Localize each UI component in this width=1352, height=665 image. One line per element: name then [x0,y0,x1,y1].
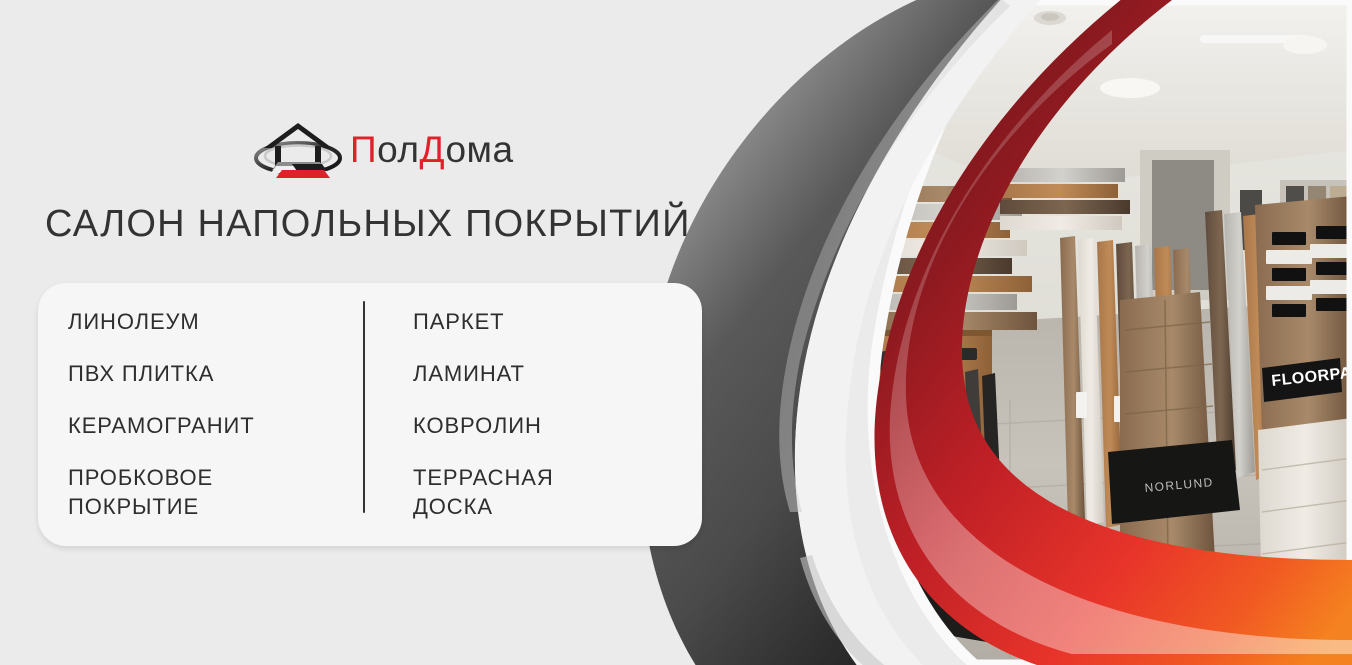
wordmark-part-1: ол [377,129,419,170]
category-item[interactable]: ТЕРРАСНАЯ ДОСКА [413,463,663,521]
norlund-stand [1108,440,1240,524]
page-title: САЛОН НАПОЛЬНЫХ ПОКРЫТИЙ [45,203,705,246]
brand-wordmark: ПолДома [350,131,514,168]
categories-card: ЛИНОЛЕУМ ПВХ ПЛИТКА КЕРАМОГРАНИТ ПРОБКОВ… [38,283,702,546]
grey-wisp [779,0,1010,512]
sample-rack-left [1060,236,1201,536]
wordmark-part-2: Д [419,129,445,170]
showroom-photo: NORLUND [860,0,1352,665]
herringbone-display [1120,292,1215,572]
swoosh-gap-white [795,0,1046,665]
grey-accent-stroke [800,555,888,665]
house-floor-logo-icon [252,118,344,180]
promo-banner: NORLUND [0,0,1352,665]
sample-rack-center [1205,210,1312,484]
dark-panel-fan [880,349,1007,630]
category-item[interactable]: ЛИНОЛЕУМ [68,307,363,336]
sample-rack-right [1255,196,1352,436]
floorpan-sign: FLOORPAN [1262,358,1352,402]
svg-text:FLOORPAN: FLOORPAN [1271,363,1352,390]
column-divider [363,301,365,513]
photo-edge-stroke [873,0,1352,665]
red-swoosh [874,0,1352,665]
category-item[interactable]: ЛАМИНАТ [413,359,663,388]
brand-logo[interactable]: ПолДома [252,118,484,180]
category-item[interactable]: ПРОБКОВОЕ ПОКРЫТИЕ [68,463,363,521]
categories-column-right: ПАРКЕТ ЛАМИНАТ КОВРОЛИН ТЕРРАСНАЯ ДОСКА [363,283,663,521]
left-content: ПолДома САЛОН НАПОЛЬНЫХ ПОКРЫТИЙ ЛИНОЛЕУ… [0,0,720,665]
wordmark-part-0: П [350,129,377,170]
svg-text:NORLUND: NORLUND [1144,475,1214,495]
category-item[interactable]: ПАРКЕТ [413,307,663,336]
categories-column-left: ЛИНОЛЕУМ ПВХ ПЛИТКА КЕРАМОГРАНИТ ПРОБКОВ… [38,283,363,521]
category-item[interactable]: КОВРОЛИН [413,411,663,440]
category-item[interactable]: ПВХ ПЛИТКА [68,359,363,388]
red-swoosh-highlight [890,30,1352,654]
category-item[interactable]: КЕРАМОГРАНИТ [68,411,363,440]
wordmark-part-3: ома [445,129,513,170]
